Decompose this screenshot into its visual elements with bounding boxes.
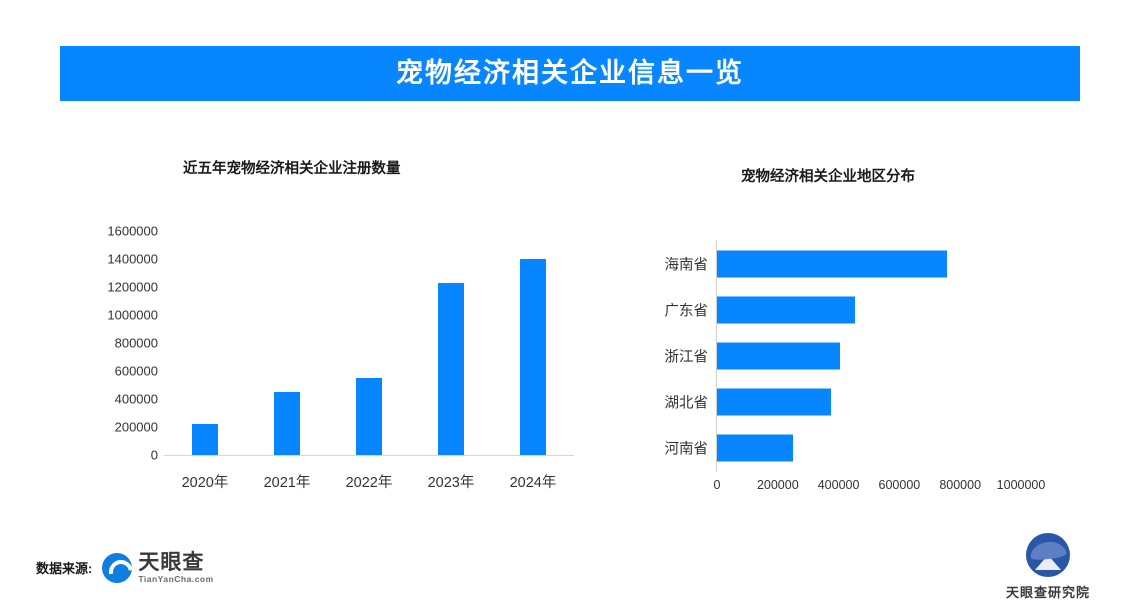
y-axis-tick-label: 1600000 [86,224,158,239]
y-axis-tick-label: 0 [86,448,158,463]
x-axis-line [164,455,574,456]
tianyancha-logo: 天眼查 TianYanCha.com [102,552,213,584]
bar [520,259,546,455]
plot-area: 2020年2021年2022年2023年2024年 [164,215,574,500]
x-axis-tick-label: 2020年 [160,471,250,492]
x-axis-tick-label: 800000 [939,478,981,492]
y-axis-tick-label: 200000 [86,420,158,435]
bar [438,283,464,455]
bar [717,297,855,324]
region-distribution-bar-chart: 海南省广东省浙江省湖北省河南省0200000400000600000800000… [630,232,1060,507]
tianyancha-wordmark: 天眼查 TianYanCha.com [138,552,213,584]
x-axis-tick-label: 600000 [879,478,921,492]
y-axis-tick-labels: 0200000400000600000800000100000012000001… [80,215,158,500]
infographic-page: 宠物经济相关企业信息一览 近五年宠物经济相关企业注册数量 宠物经济相关企业地区分… [0,0,1136,613]
category-label: 湖北省 [630,392,708,413]
research-institute-name: 天眼查研究院 [1006,582,1090,601]
registrations-bar-chart: 0200000400000600000800000100000012000001… [80,215,580,500]
tianyancha-eye-icon [102,553,132,583]
page-title: 宠物经济相关企业信息一览 [396,60,744,87]
header-banner: 宠物经济相关企业信息一览 [60,46,1080,101]
tianyancha-name-cn: 天眼查 [138,552,213,573]
data-source: 数据来源: 天眼查 TianYanCha.com [36,552,214,584]
x-axis-tick-label: 1000000 [997,478,1046,492]
bar [356,378,382,455]
y-axis-tick-label: 800000 [86,336,158,351]
x-axis-tick-label: 2023年 [406,471,496,492]
y-axis-tick-label: 1000000 [86,308,158,323]
y-axis-tick-label: 1200000 [86,280,158,295]
x-axis-tick-label: 400000 [818,478,860,492]
bar [192,424,218,455]
y-axis-tick-label: 1400000 [86,252,158,267]
bar [717,435,793,462]
y-axis-tick-label: 600000 [86,364,158,379]
y-axis-tick-label: 400000 [86,392,158,407]
x-axis-tick-label: 2022年 [324,471,414,492]
x-axis-tick-label: 2021年 [242,471,332,492]
data-source-label: 数据来源: [36,558,92,577]
bar [717,251,947,278]
x-axis-tick-label: 0 [714,478,721,492]
right-chart-title: 宠物经济相关企业地区分布 [741,165,915,186]
bar [717,343,840,370]
bar [274,392,300,455]
x-axis-tick-label: 2024年 [488,471,578,492]
category-label: 浙江省 [630,346,708,367]
research-institute-brand: 天眼查研究院 [1008,533,1088,601]
tianyancha-name-en: TianYanCha.com [138,575,213,584]
x-axis-tick-label: 200000 [757,478,799,492]
category-label: 河南省 [630,438,708,459]
bar [717,389,831,416]
mountain-arc-icon [1026,533,1070,577]
left-chart-title: 近五年宠物经济相关企业注册数量 [183,157,401,178]
category-label: 海南省 [630,254,708,275]
category-label: 广东省 [630,300,708,321]
